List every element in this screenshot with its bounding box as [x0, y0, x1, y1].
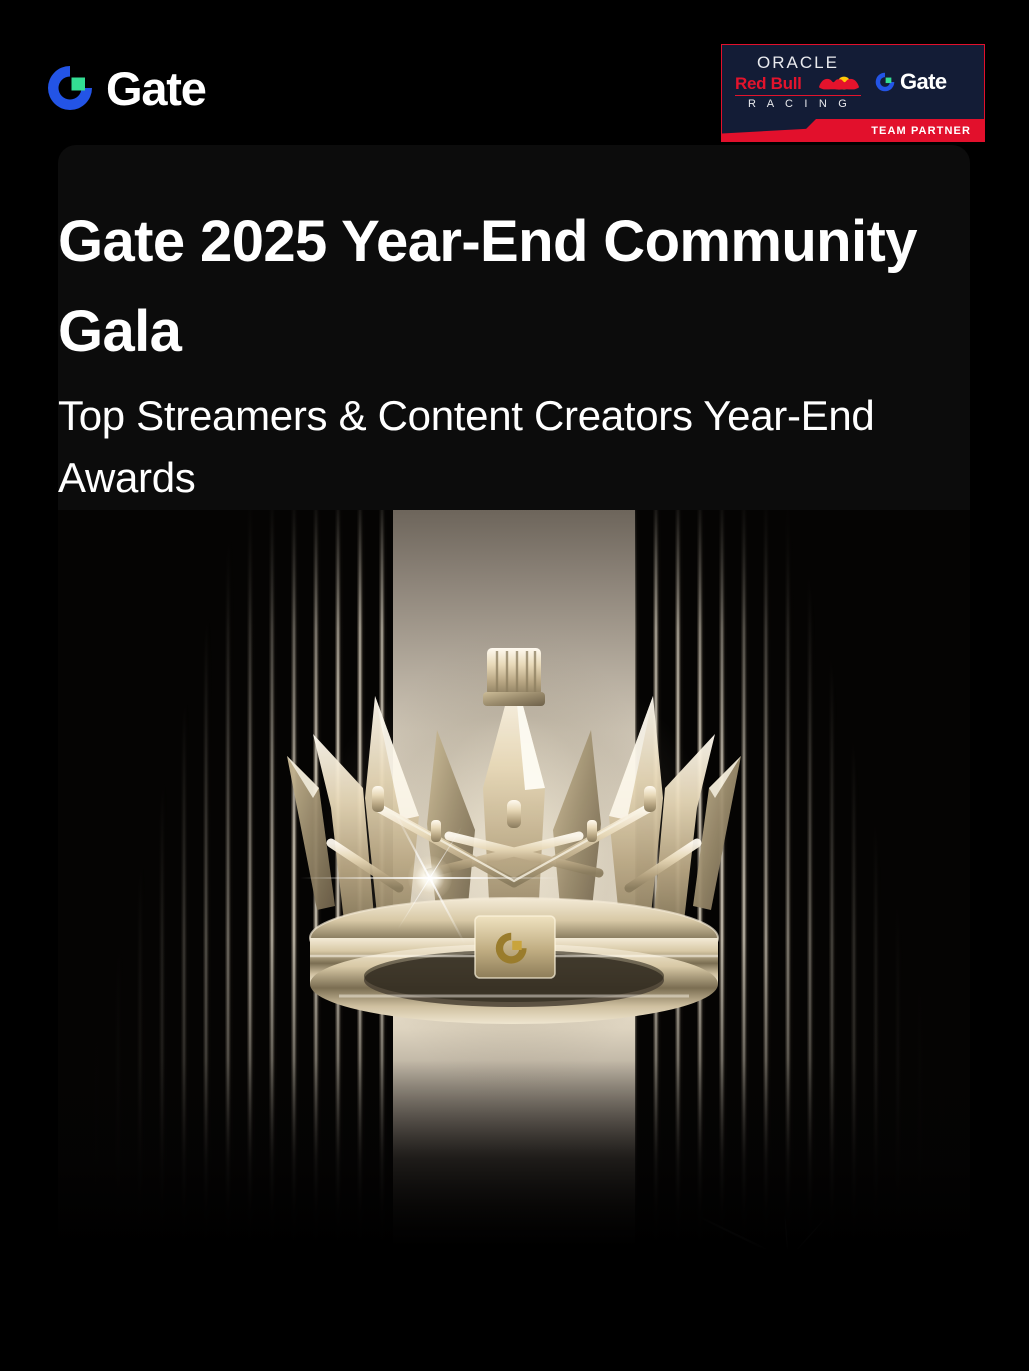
red-bull-label: Red Bull [735, 75, 802, 92]
gate-brand-logo[interactable]: Gate [44, 62, 206, 114]
page-title: Gate 2025 Year-End Community Gala [58, 197, 968, 377]
gate-logo-medallion-icon [475, 916, 555, 978]
page-header: Gate ORACLE Red Bull [0, 0, 1029, 145]
page-subtitle: Top Streamers & Content Creators Year-En… [58, 385, 938, 509]
gate-logo-icon [44, 62, 96, 114]
oracle-red-bull-racing-lockup: ORACLE Red Bull R A C I N G [735, 54, 861, 110]
promo-page: Gate ORACLE Red Bull [0, 0, 1029, 1371]
crystal-crown-hero-image [58, 510, 970, 1250]
badge-divider [735, 95, 861, 96]
hero-bottom-vignette [58, 1060, 970, 1250]
red-bull-bulls-icon [817, 75, 861, 92]
red-bull-racing-partner-badge[interactable]: ORACLE Red Bull R A C I N G [721, 44, 985, 142]
racing-label: R A C I N G [735, 99, 861, 110]
badge-gate-logo: Gate [874, 71, 947, 93]
announcement-card: Gate 2025 Year-End Community Gala Top St… [58, 145, 970, 1371]
badge-gate-wordmark: Gate [900, 71, 947, 93]
oracle-label: ORACLE [735, 54, 861, 71]
team-partner-label: TEAM PARTNER [871, 126, 971, 137]
card-bottom-spacer [58, 1250, 970, 1371]
crown-illustration [279, 638, 749, 1058]
gate-wordmark: Gate [106, 65, 206, 112]
gate-logo-icon [874, 71, 896, 93]
team-partner-banner: TEAM PARTNER [722, 119, 984, 141]
